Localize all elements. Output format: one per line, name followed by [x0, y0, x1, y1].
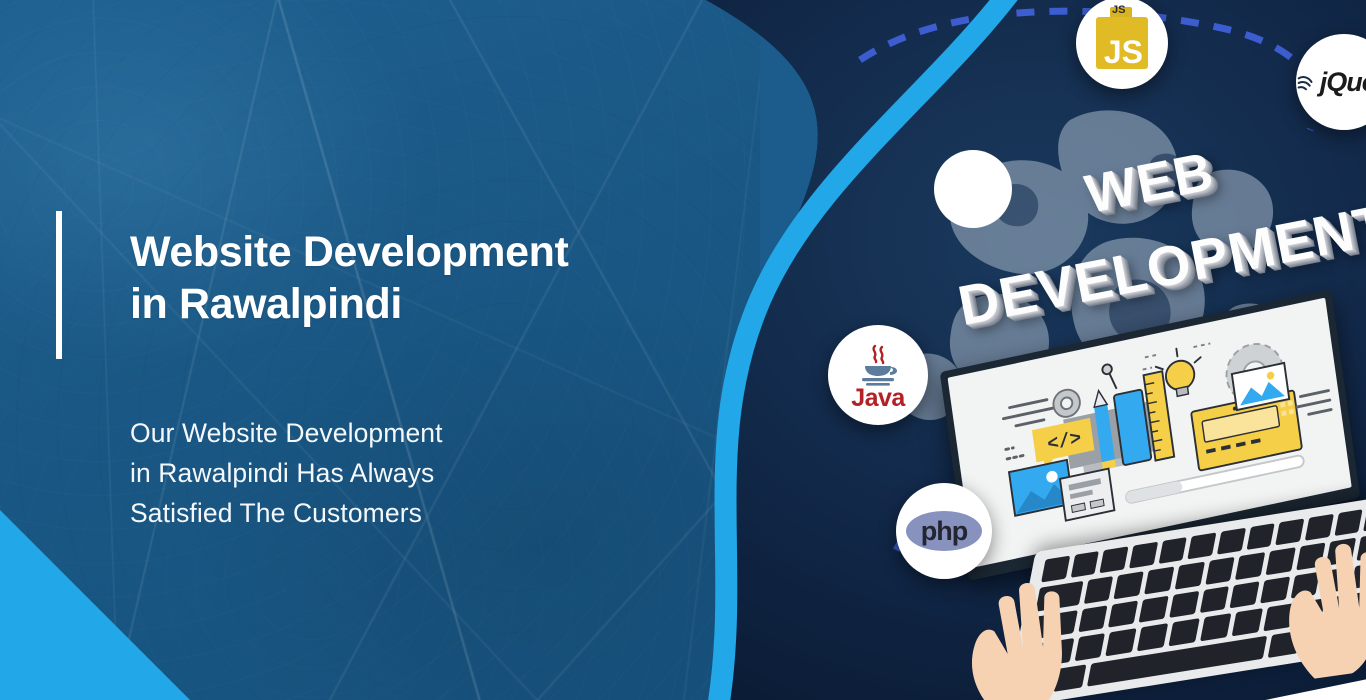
- scratch-texture-overlay: [0, 0, 760, 700]
- jquery-label: jQuery: [1320, 67, 1366, 98]
- javascript-icon: [1096, 17, 1148, 69]
- left-hand-illustration: [950, 558, 1090, 700]
- php-logo-badge: php: [896, 483, 992, 579]
- java-logo-badge: Java: [828, 325, 928, 425]
- website-development-banner: _object"]; ob.select = 1 modifier_ob = o…: [0, 0, 1366, 700]
- laptop-illustration: </>: [930, 330, 1366, 630]
- jquery-swoosh-icon: [1296, 71, 1317, 93]
- left-background-panel: [0, 0, 760, 700]
- page-subtitle: Our Website Development in Rawalpindi Ha…: [130, 413, 650, 533]
- grain-texture-overlay: [0, 0, 760, 700]
- page-title: Website Development in Rawalpindi: [130, 226, 730, 330]
- javascript-logo-badge: [1076, 0, 1168, 89]
- java-label: Java: [851, 387, 905, 409]
- java-coffee-icon: [855, 342, 901, 386]
- ghost-badge: [934, 150, 1012, 228]
- php-label: php: [921, 518, 967, 545]
- headline-accent-bar: [56, 211, 62, 359]
- php-icon: php: [906, 511, 982, 551]
